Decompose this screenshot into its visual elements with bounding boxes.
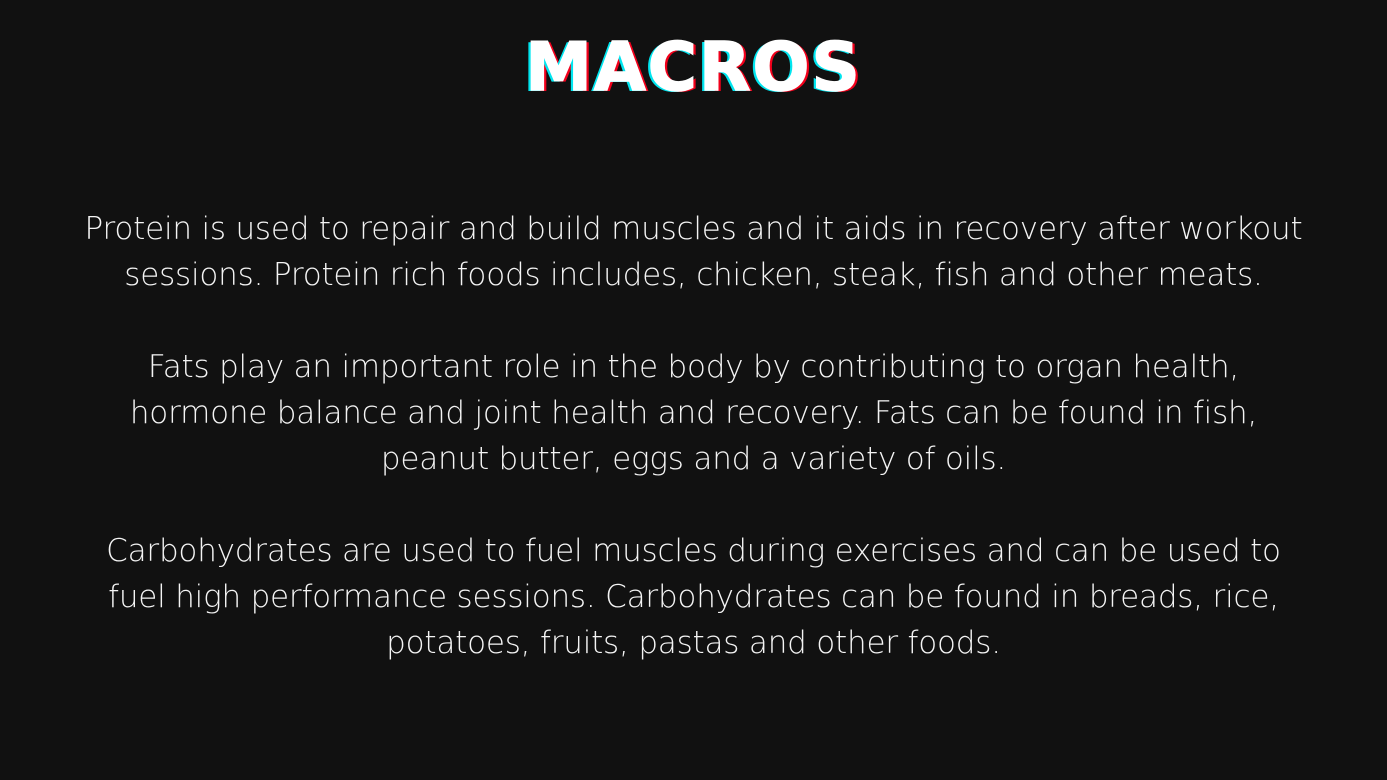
paragraph-carbohydrates: Carbohydrates are used to fuel muscles d… <box>40 528 1347 666</box>
slide-body-text: Protein is used to repair and build musc… <box>40 206 1347 666</box>
paragraph-protein: Protein is used to repair and build musc… <box>40 206 1347 298</box>
paragraph-fats: Fats play an important role in the body … <box>40 344 1347 482</box>
slide-canvas: MACROS Protein is used to repair and bui… <box>0 0 1387 780</box>
page-title: MACROS <box>525 34 862 101</box>
slide-title-container: MACROS <box>0 34 1387 101</box>
